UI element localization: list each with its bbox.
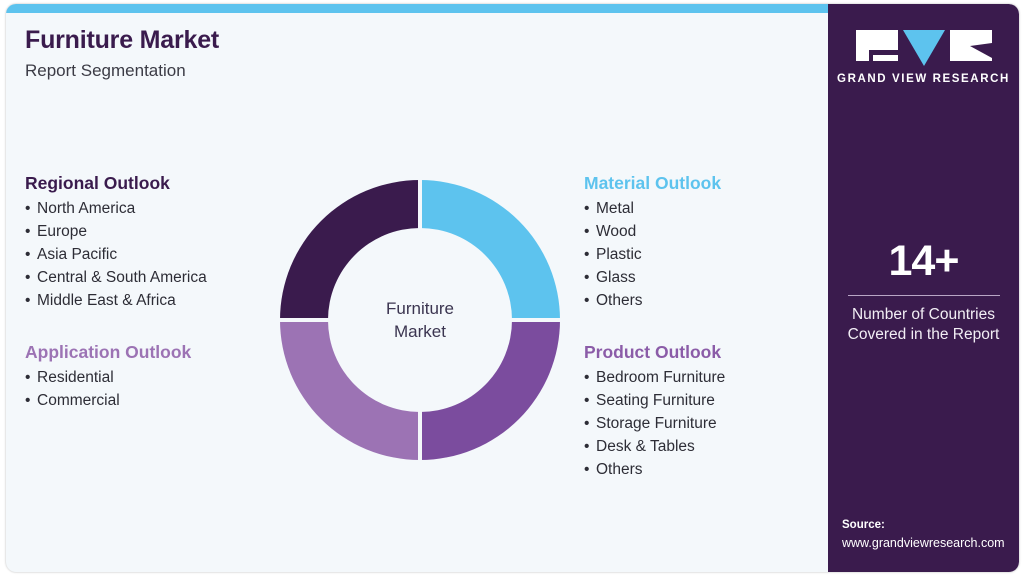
stat-value: 14+ (828, 240, 1019, 283)
list-item: Asia Pacific (25, 244, 207, 267)
list-item: Others (584, 459, 725, 482)
page-subtitle: Report Segmentation (25, 61, 219, 81)
stat-divider (848, 295, 1000, 296)
stat-label-line-1: Number of Countries (828, 305, 1019, 325)
gvr-v-triangle-icon (903, 30, 945, 66)
source-url[interactable]: www.grandviewresearch.com (842, 535, 1005, 553)
product-outlook-block: Product Outlook Bedroom Furniture Seatin… (584, 341, 725, 481)
list-item: Europe (25, 221, 207, 244)
stat-label: Number of Countries Covered in the Repor… (828, 305, 1019, 345)
source-label: Source: (842, 517, 1005, 534)
source-attribution: Source: www.grandviewresearch.com (842, 517, 1005, 552)
list-item: Glass (584, 267, 721, 290)
list-item: Wood (584, 221, 721, 244)
logo-marks (828, 30, 1019, 66)
regional-outlook-list: North America Europe Asia Pacific Centra… (25, 198, 207, 313)
list-item: Storage Furniture (584, 413, 725, 436)
list-item: Residential (25, 367, 191, 390)
product-outlook-list: Bedroom Furniture Seating Furniture Stor… (584, 367, 725, 482)
list-item: Bedroom Furniture (584, 367, 725, 390)
regional-outlook-heading: Regional Outlook (25, 172, 207, 195)
list-item: Middle East & Africa (25, 290, 207, 313)
top-accent-strip (6, 4, 828, 13)
gvr-r-icon (950, 30, 992, 66)
list-item: Metal (584, 198, 721, 221)
product-outlook-heading: Product Outlook (584, 341, 725, 364)
list-item: Seating Furniture (584, 390, 725, 413)
material-outlook-block: Material Outlook Metal Wood Plastic Glas… (584, 172, 721, 312)
material-outlook-list: Metal Wood Plastic Glass Others (584, 198, 721, 313)
list-item: Desk & Tables (584, 436, 725, 459)
list-item: Others (584, 290, 721, 313)
brand-logo: GRAND VIEW RESEARCH (828, 30, 1019, 85)
list-item: Commercial (25, 390, 191, 413)
infographic-page: Furniture Market Report Segmentation (0, 0, 1025, 576)
stat-label-line-2: Covered in the Report (828, 325, 1019, 345)
side-panel: GRAND VIEW RESEARCH 14+ Number of Countr… (828, 4, 1019, 572)
application-outlook-block: Application Outlook Residential Commerci… (25, 341, 191, 413)
content-card: Furniture Market Report Segmentation (6, 4, 1019, 572)
list-item: Plastic (584, 244, 721, 267)
segmentation-donut-chart: Furniture Market (274, 174, 566, 466)
application-outlook-heading: Application Outlook (25, 341, 191, 364)
gvr-g-icon (856, 30, 898, 66)
donut-hole (328, 228, 512, 412)
regional-outlook-block: Regional Outlook North America Europe As… (25, 172, 207, 312)
country-count-stat: 14+ Number of Countries Covered in the R… (828, 240, 1019, 345)
header: Furniture Market Report Segmentation (25, 26, 219, 80)
application-outlook-list: Residential Commercial (25, 367, 191, 413)
material-outlook-heading: Material Outlook (584, 172, 721, 195)
page-title: Furniture Market (25, 26, 219, 55)
list-item: North America (25, 198, 207, 221)
donut-svg (274, 174, 566, 466)
list-item: Central & South America (25, 267, 207, 290)
brand-name: GRAND VIEW RESEARCH (828, 73, 1019, 85)
